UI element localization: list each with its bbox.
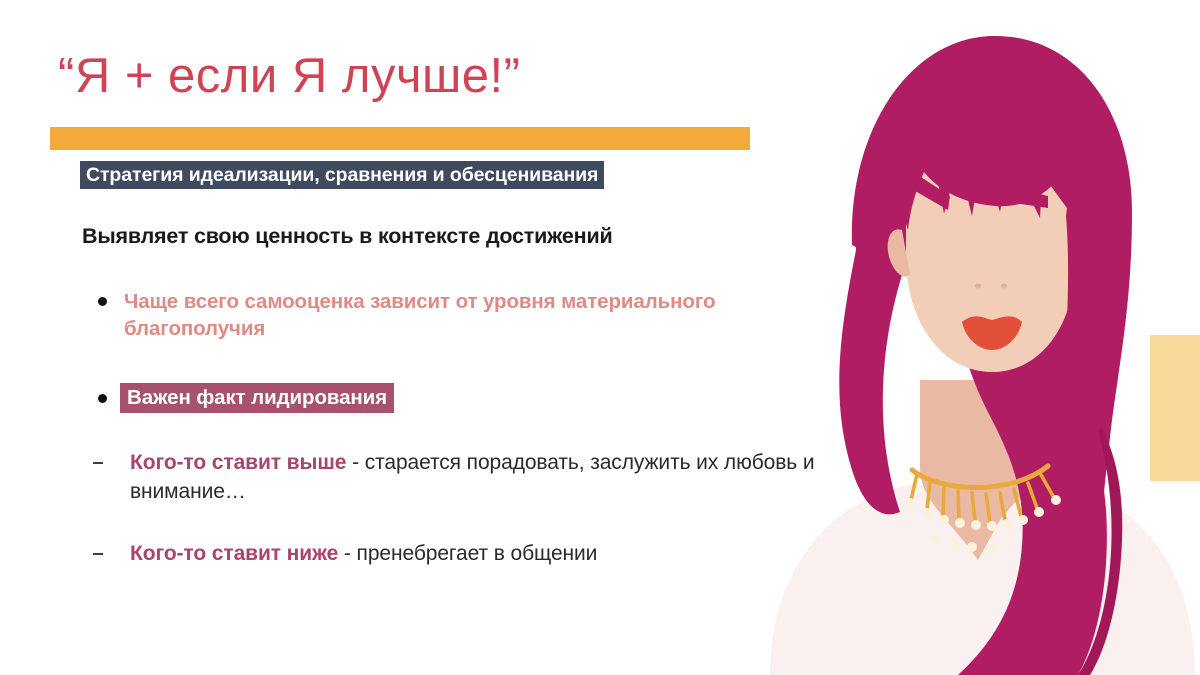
dash-marker-icon [93, 553, 103, 555]
yellow-accent-block [1150, 335, 1200, 481]
sub-list-item-text: Кого-то ставит ниже - пренебрегает в общ… [130, 539, 597, 568]
highlighted-list-item-label: Важен факт лидирования [120, 383, 394, 413]
slide-canvas: “Я + если Я лучше!” Стратегия идеализаци… [0, 0, 1200, 675]
section-heading-banner: Стратегия идеализации, сравнения и обесц… [80, 161, 604, 189]
sub-list-item-emphasis: Кого-то ставит выше [130, 451, 346, 474]
bullet-dot-icon [98, 394, 107, 403]
sub-list-item-text: Кого-то ставит выше - старается порадова… [130, 448, 820, 507]
subtitle-text: Выявляет свою ценность в контексте дости… [82, 224, 612, 249]
sub-list-item: Кого-то ставит ниже - пренебрегает в общ… [93, 539, 597, 568]
sub-list-item: Кого-то ставит выше - старается порадова… [93, 448, 820, 507]
dash-marker-icon [93, 462, 103, 464]
orange-accent-bar [50, 127, 750, 150]
sub-list-item-emphasis: Кого-то ставит ниже [130, 542, 338, 565]
bullet-dot-icon [98, 297, 107, 306]
list-item: Чаще всего самооценка зависит от уровня … [98, 288, 764, 342]
page-title: “Я + если Я лучше!” [58, 50, 521, 104]
sub-list-item-rest: - пренебрегает в общении [338, 542, 597, 565]
woman-portrait-illustration [760, 0, 1200, 675]
list-item-label: Чаще всего самооценка зависит от уровня … [124, 288, 764, 342]
list-item: Важен факт лидирования [98, 383, 394, 413]
